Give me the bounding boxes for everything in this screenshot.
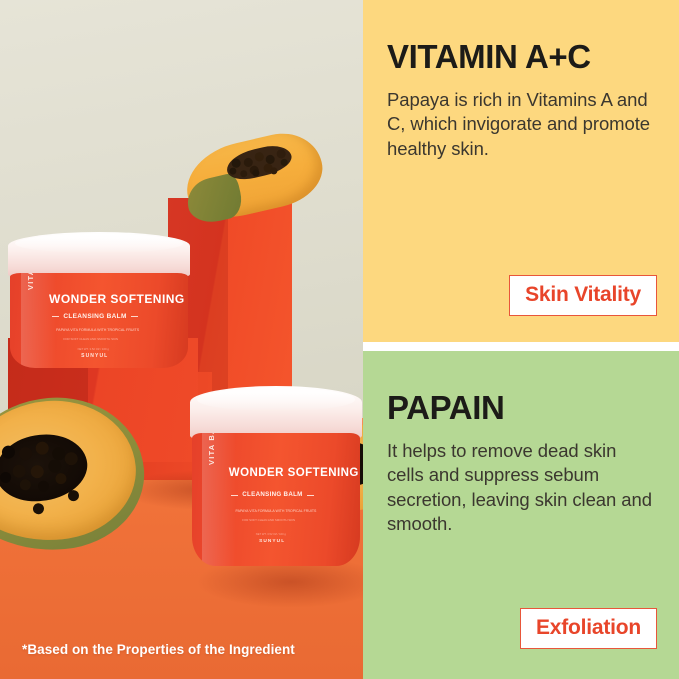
product-jar-second: VITA BALANCE WONDER SOFTENING CLEANSING … — [190, 386, 362, 566]
jar-net-weight: NET WT. 3.52 OZ / 100 g — [78, 347, 109, 351]
disclaimer-text: *Based on the Properties of the Ingredie… — [22, 642, 295, 657]
panel-papain: PAPAIN It helps to remove dead skin cell… — [363, 351, 679, 679]
jar-lid — [8, 232, 190, 278]
panel-divider — [363, 342, 679, 351]
badge-skin-vitality: Skin Vitality — [509, 275, 657, 316]
papaya-half-left — [0, 390, 150, 558]
jar-vertical-label: VITA BALANCE — [26, 273, 35, 290]
panel-vitamin: VITAMIN A+C Papaya is rich in Vitamins A… — [363, 0, 679, 342]
jar-fine-print: PAPAYA VITA FORMULA WITH TROPICAL FRUITS — [56, 328, 139, 332]
jar-body: VITA BALANCE WONDER SOFTENING CLEANSING … — [10, 273, 188, 368]
jar-subtitle: CLEANSING BALM — [63, 313, 126, 320]
product-jar-front: VITA BALANCE WONDER SOFTENING CLEANSING … — [8, 232, 190, 368]
jar-brand: SUNYUL — [81, 353, 108, 359]
badge-row-papain: Exfoliation — [387, 608, 657, 679]
jar-vertical-label: VITA BALANCE — [207, 433, 216, 465]
jar-fine-print: PAPAYA VITA FORMULA WITH TROPICAL FRUITS — [236, 509, 317, 513]
jar-title: WONDER SOFTENING — [49, 292, 185, 306]
panel-body-papain: It helps to remove dead skin cells and s… — [387, 439, 657, 537]
jar-brand: SUNYUL — [259, 539, 285, 544]
panel-heading-papain: PAPAIN — [387, 391, 657, 424]
panel-heading-vitamin: VITAMIN A+C — [387, 40, 657, 73]
panel-body-vitamin: Papaya is rich in Vitamins A and C, whic… — [387, 88, 657, 161]
jar-subtitle: CLEANSING BALM — [242, 491, 302, 498]
product-infographic: VITA BALANCE WONDER SOFTENING CLEANSING … — [0, 0, 679, 679]
jar-net-weight: NET WT. 3.52 OZ / 100 g — [256, 533, 286, 536]
badge-row-vitamin: Skin Vitality — [387, 275, 657, 342]
jar-fine-print-2: FOR SOFT CLEAN AND SMOOTH SKIN — [242, 518, 295, 522]
info-panels: VITAMIN A+C Papaya is rich in Vitamins A… — [363, 0, 679, 679]
product-photo: VITA BALANCE WONDER SOFTENING CLEANSING … — [0, 0, 363, 679]
badge-exfoliation: Exfoliation — [520, 608, 657, 649]
jar-fine-print-2: FOR SOFT CLEAN AND SMOOTH SKIN — [63, 337, 118, 341]
jar-title: WONDER SOFTENING — [229, 467, 359, 479]
jar-body: VITA BALANCE WONDER SOFTENING CLEANSING … — [192, 433, 361, 566]
